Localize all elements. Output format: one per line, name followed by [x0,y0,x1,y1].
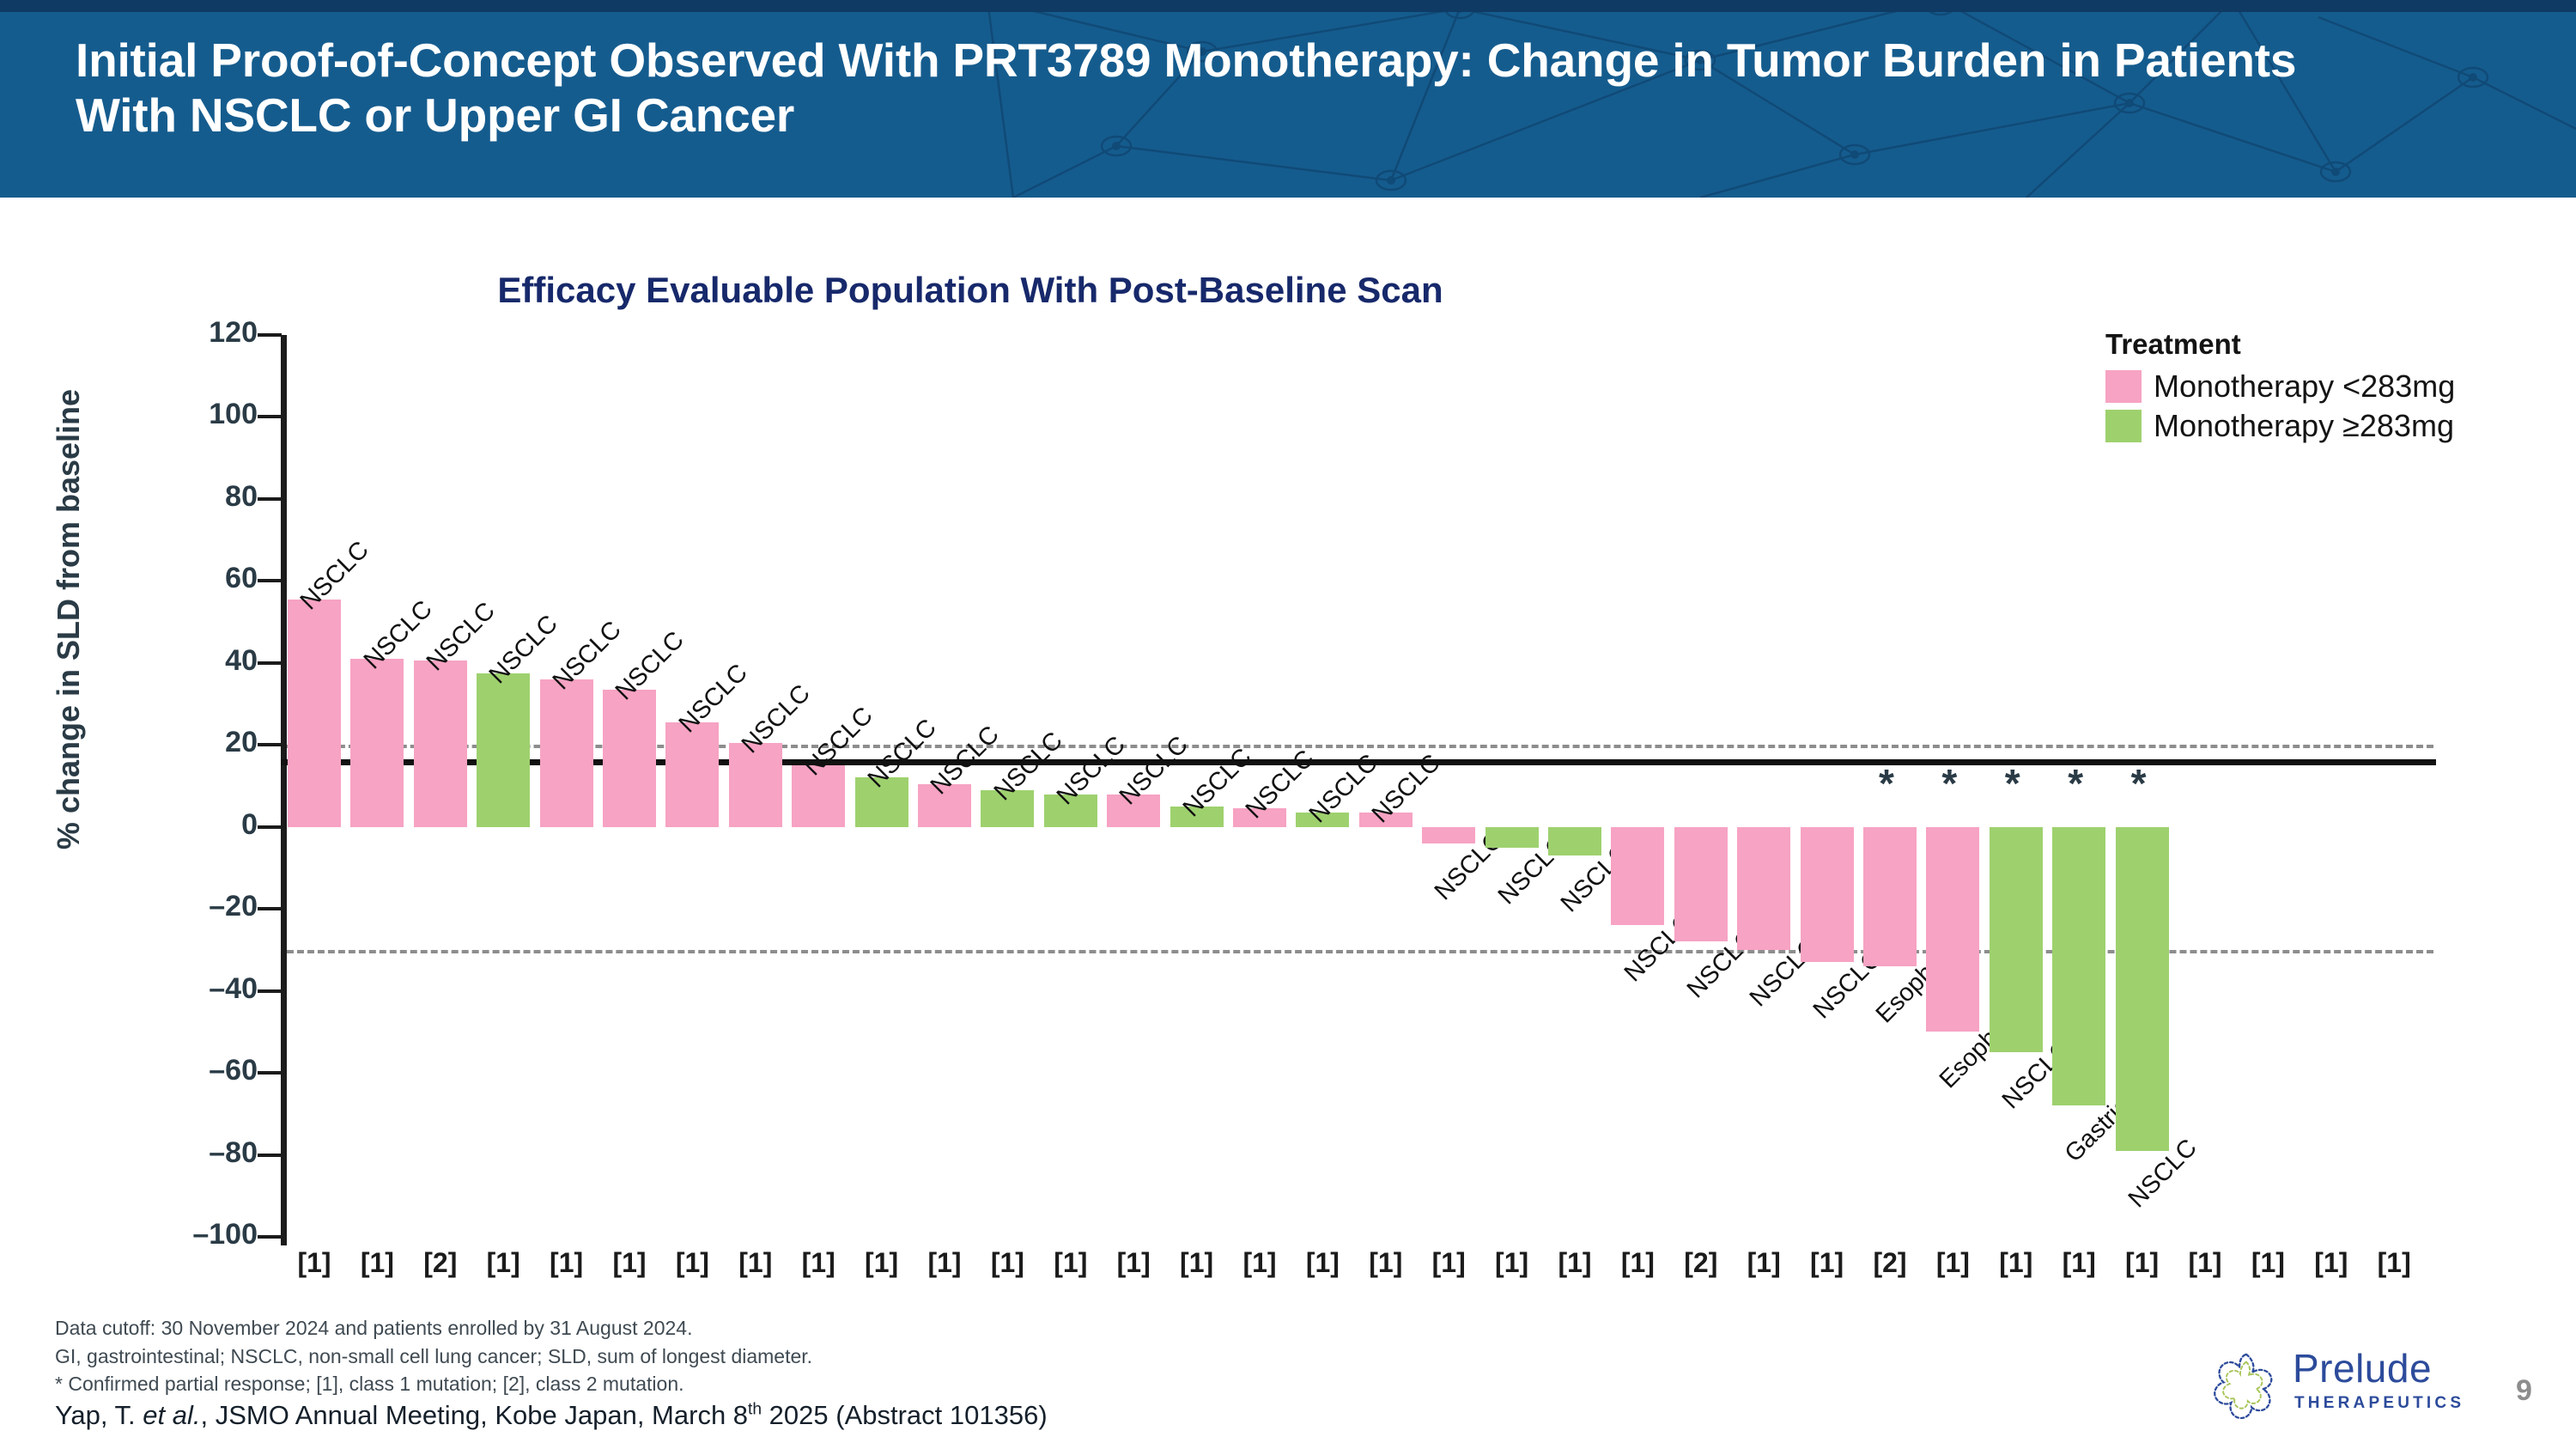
bar[interactable] [2116,827,2169,1151]
page-number: 9 [2516,1374,2532,1408]
slide-header: Initial Proof-of-Concept Observed With P… [0,0,2576,198]
x-axis-class-label: [1] [910,1247,979,1279]
citation-tail: 2025 (Abstract 101356) [762,1400,1048,1430]
y-tick [258,497,282,501]
page-title: Initial Proof-of-Concept Observed With P… [76,33,2394,143]
y-tick-label: 80 [60,480,258,514]
y-tick [258,1235,282,1239]
y-tick-label: –40 [60,972,258,1006]
x-axis-class-label: [1] [1918,1247,1987,1279]
x-axis-class-label: [1] [1036,1247,1105,1279]
y-axis-title: % change in SLD from baseline [51,293,87,946]
footnote-symbols: * Confirmed partial response; [1], class… [55,1370,1686,1398]
bar[interactable] [1863,827,1917,966]
y-tick [258,907,282,910]
x-axis-class-label: [1] [1793,1247,1862,1279]
x-axis-class-label: [1] [1414,1247,1483,1279]
legend-swatch-low-dose [2105,370,2142,403]
y-tick [258,1071,282,1075]
y-tick-label: 40 [60,644,258,678]
x-axis-class-label: [1] [1288,1247,1357,1279]
y-tick-label: 0 [60,808,258,842]
bar[interactable] [1485,827,1539,848]
y-tick [258,743,282,746]
footnote-data-cutoff: Data cutoff: 30 November 2024 and patien… [55,1314,1686,1342]
x-axis-class-label: [1] [2233,1247,2302,1279]
bar[interactable] [477,673,530,827]
x-axis-class-label: [1] [784,1247,853,1279]
x-axis-class-label: [2] [1856,1247,1924,1279]
x-axis-class-label: [1] [280,1247,349,1279]
x-axis-class-label: [1] [2297,1247,2366,1279]
legend-label-low-dose: Monotherapy <283mg [2154,371,2455,402]
bar[interactable] [540,679,593,827]
y-tick [258,825,282,829]
header-top-band [0,0,2576,12]
citation-author: Yap, T. [55,1400,143,1430]
x-axis-class-label: [1] [1729,1247,1798,1279]
prelude-logo: Prelude THERAPEUTICS [2207,1342,2490,1428]
confirmed-partial-response-star: * [2131,760,2147,807]
y-tick-label: 100 [60,398,258,431]
x-axis-class-label: [1] [2044,1247,2113,1279]
x-axis-class-label: [1] [1225,1247,1294,1279]
legend-item-high-dose[interactable]: Monotherapy ≥283mg [2105,406,2552,446]
y-tick-label: –100 [60,1218,258,1251]
citation: Yap, T. et al., JSMO Annual Meeting, Kob… [55,1400,1048,1431]
y-tick [258,989,282,993]
y-tick-label: 120 [60,316,258,350]
bar[interactable] [1611,827,1664,926]
y-axis-line [281,335,287,1245]
footnote-abbreviations: GI, gastrointestinal; NSCLC, non-small c… [55,1342,1686,1371]
logo-wordmark: Prelude [2293,1349,2432,1388]
citation-rest: , JSMO Annual Meeting, Kobe Japan, March… [200,1400,748,1430]
chart-title: Efficacy Evaluable Population With Post-… [0,270,1941,311]
x-axis-class-label: [1] [848,1247,916,1279]
bar[interactable] [1801,827,1854,963]
legend-label-high-dose: Monotherapy ≥283mg [2154,411,2454,441]
x-axis-class-label: [1] [2171,1247,2239,1279]
confirmed-partial-response-star: * [1941,760,1957,807]
x-axis-class-label: [1] [721,1247,790,1279]
x-axis-class-label: [1] [1982,1247,2050,1279]
y-tick [258,1154,282,1157]
bar[interactable] [1990,827,2043,1053]
bar[interactable] [350,659,404,827]
x-axis-class-label: [1] [1603,1247,1672,1279]
x-axis-class-label: [1] [1352,1247,1420,1279]
y-tick-label: –80 [60,1136,258,1170]
y-tick-label: 60 [60,562,258,595]
y-tick-label: 20 [60,726,258,759]
prelude-starburst-icon [2207,1347,2286,1422]
y-tick [258,415,282,418]
y-tick-label: –60 [60,1054,258,1087]
chart-legend: Treatment Monotherapy <283mg Monotherapy… [2105,328,2552,446]
citation-superscript: th [748,1401,762,1419]
logo-subtitle: THERAPEUTICS [2294,1395,2464,1411]
x-axis-class-label: [1] [532,1247,601,1279]
x-axis-class-label: [1] [1478,1247,1546,1279]
bar[interactable] [288,600,341,827]
x-axis-class-label: [1] [2108,1247,2177,1279]
x-axis-class-label: [2] [406,1247,475,1279]
bar[interactable] [1737,827,1790,950]
confirmed-partial-response-star: * [2068,760,2083,807]
y-tick [258,579,282,582]
citation-etal: et al. [143,1400,200,1430]
legend-title: Treatment [2105,328,2552,361]
reference-line [287,950,2433,953]
x-axis-class-label: [1] [2360,1247,2428,1279]
bar[interactable] [414,661,467,826]
y-tick [258,333,282,337]
bar[interactable] [603,690,656,827]
confirmed-partial-response-star: * [2005,760,2020,807]
y-tick-label: –20 [60,890,258,923]
x-axis-class-label: [1] [1163,1247,1231,1279]
bar[interactable] [1422,827,1475,843]
x-axis-class-label: [1] [469,1247,538,1279]
legend-swatch-high-dose [2105,410,2142,442]
bar[interactable] [1926,827,1979,1032]
confirmed-partial-response-star: * [1879,760,1894,807]
x-axis-class-label: [2] [1667,1247,1735,1279]
x-axis-class-label: [1] [343,1247,411,1279]
legend-item-low-dose[interactable]: Monotherapy <283mg [2105,367,2552,406]
x-axis-class-label: [1] [973,1247,1042,1279]
bar[interactable] [1674,827,1728,942]
y-tick [258,661,282,665]
x-axis-class-label: [1] [1099,1247,1168,1279]
x-axis-class-label: [1] [658,1247,726,1279]
bar[interactable] [2052,827,2105,1106]
bar[interactable] [1548,827,1601,855]
footnotes: Data cutoff: 30 November 2024 and patien… [55,1314,1686,1398]
x-axis-class-label: [1] [1540,1247,1609,1279]
x-axis-class-label: [1] [595,1247,664,1279]
